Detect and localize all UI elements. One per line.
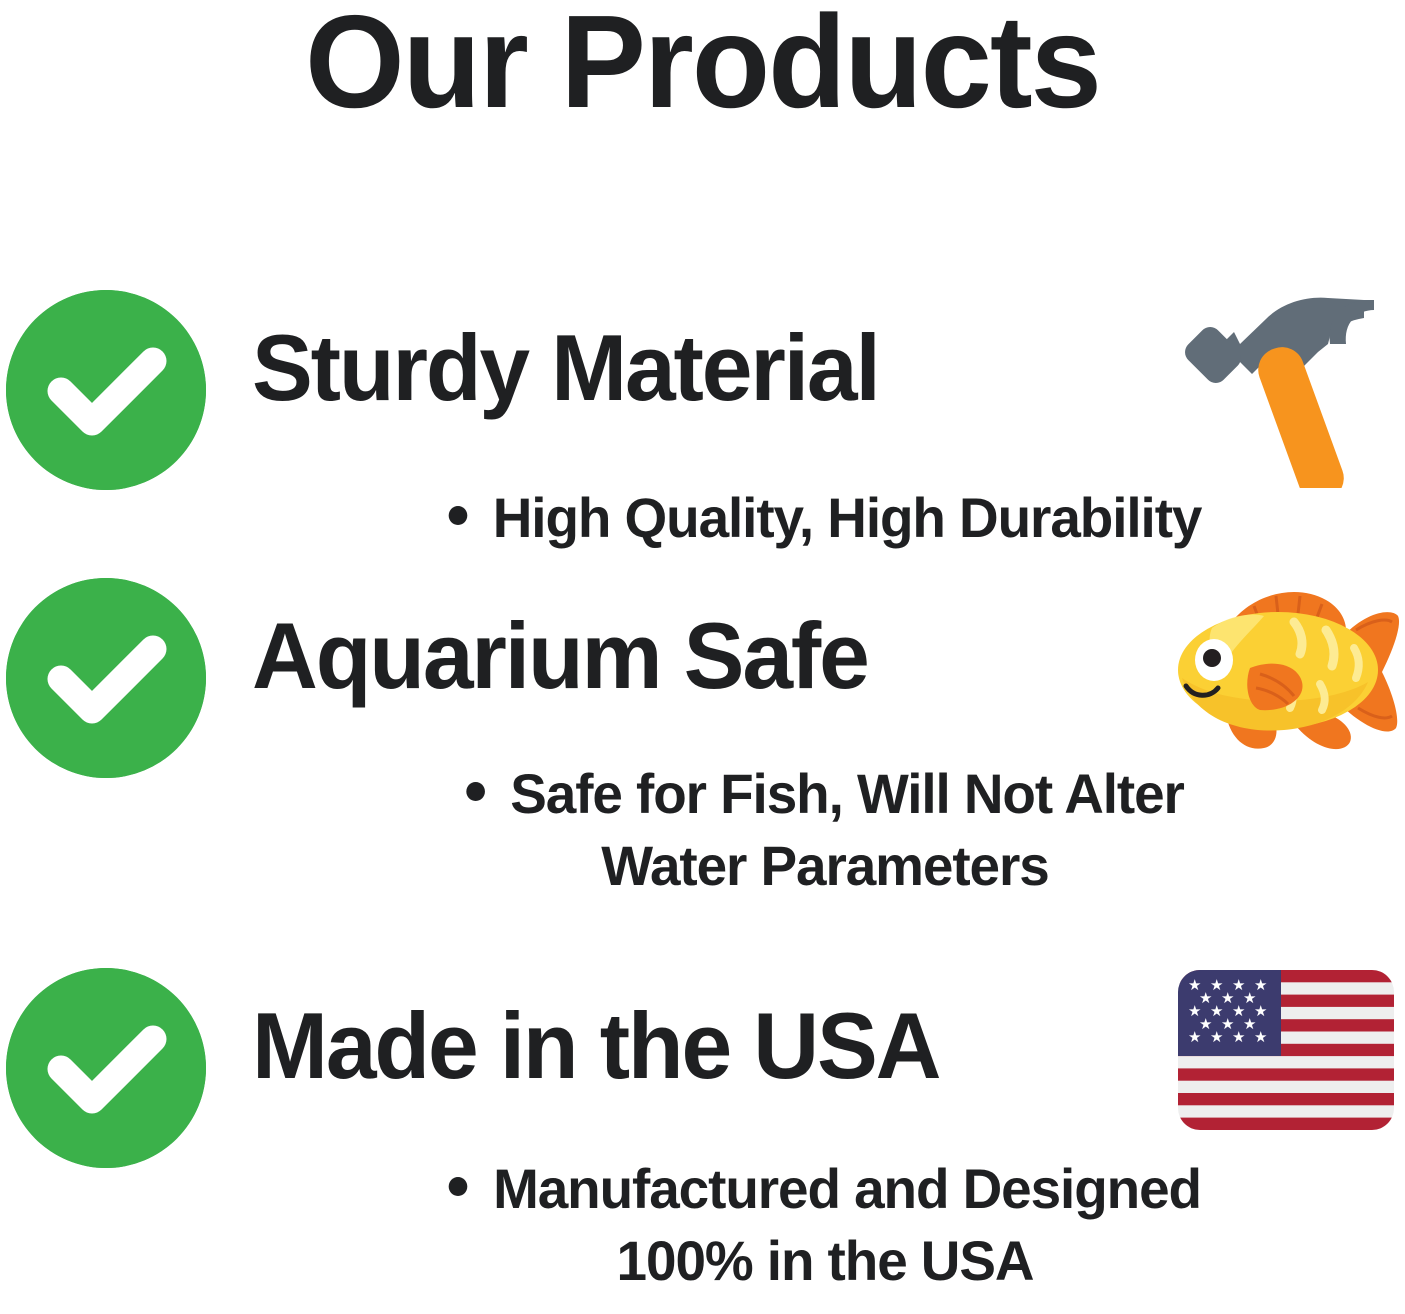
green-check-circle-icon (6, 578, 206, 778)
list-item: Manufactured and Designed (340, 1153, 1310, 1225)
product-features-page: Our Products Sturdy Material High Qualit… (0, 0, 1405, 1314)
list-item-continuation: 100% in the USA (340, 1225, 1310, 1297)
feature-bullet-list: Safe for Fish, Will Not Alter Water Para… (340, 758, 1310, 902)
feature-heading: Made in the USA (252, 996, 939, 1096)
usa-flag-emoji: ★ ★ ★ ★ ★ ★ ★ ★ ★ ★ ★ ★ ★ ★ ★ ★ ★ (1178, 970, 1394, 1130)
list-item: Safe for Fish, Will Not Alter (340, 758, 1310, 830)
bullet-text: Water Parameters (601, 834, 1048, 897)
list-item: High Quality, High Durability (340, 482, 1310, 554)
svg-text:★: ★ (1232, 1028, 1245, 1046)
feature-bullet-list: Manufactured and Designed 100% in the US… (340, 1153, 1310, 1297)
feature-bullet-list: High Quality, High Durability (340, 482, 1310, 554)
bullet-text: Safe for Fish, Will Not Alter (510, 762, 1184, 825)
feature-heading: Aquarium Safe (252, 606, 868, 706)
list-item-continuation: Water Parameters (340, 830, 1310, 902)
bullet-dot-icon (449, 1177, 468, 1196)
svg-text:★: ★ (1188, 1028, 1201, 1046)
bullet-text: 100% in the USA (617, 1229, 1034, 1292)
green-check-circle-icon (6, 290, 206, 490)
svg-text:★: ★ (1254, 1028, 1267, 1046)
tropical-fish-emoji (1168, 586, 1403, 761)
feature-heading: Sturdy Material (252, 318, 879, 418)
svg-text:★: ★ (1210, 1028, 1223, 1046)
green-check-circle-icon (6, 968, 206, 1168)
bullet-text: Manufactured and Designed (493, 1157, 1201, 1220)
hammer-emoji (1178, 292, 1400, 488)
bullet-dot-icon (466, 782, 485, 801)
page-title: Our Products (21, 0, 1384, 130)
bullet-text: High Quality, High Durability (493, 486, 1202, 549)
bullet-dot-icon (449, 506, 468, 525)
